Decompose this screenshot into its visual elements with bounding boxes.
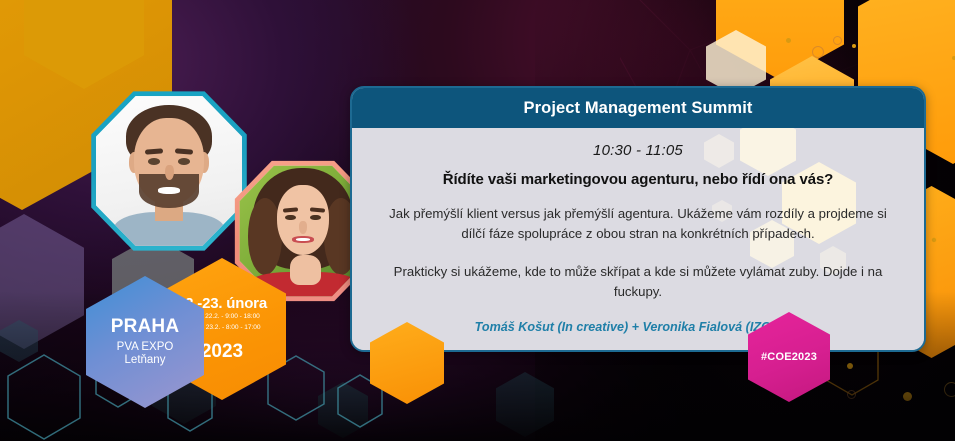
venue-city: PRAHA <box>111 316 180 338</box>
session-description-2: Prakticky si ukážeme, kde to může skřípa… <box>386 262 890 302</box>
venue-district: Letňany <box>125 354 166 368</box>
session-card-content: 10:30 - 11:05 Řídíte vaši marketingovou … <box>386 128 890 334</box>
venue-hexagon-text: PRAHA PVA EXPO Letňany <box>86 276 204 408</box>
promo-banner: 22.-23. února Středa 22.2. - 9:00 - 18:0… <box>0 0 955 441</box>
session-title: Řídíte vaši marketingovou agenturu, nebo… <box>386 171 890 188</box>
session-time: 10:30 - 11:05 <box>386 128 890 159</box>
decorative-ring-2 <box>833 36 842 45</box>
venue-place: PVA EXPO <box>117 341 174 355</box>
hashtag-badge-text: #COE2023 <box>748 312 830 402</box>
decorative-dot-amber-1 <box>786 38 791 43</box>
speaker-photo-male-image <box>93 93 245 249</box>
summit-title: Project Management Summit <box>524 99 753 118</box>
decorative-ring-1 <box>812 46 824 58</box>
date-year: 2023 <box>201 341 243 363</box>
decorative-dot-amber-2 <box>852 44 856 48</box>
session-card-header: Project Management Summit <box>352 88 924 128</box>
session-description-1: Jak přemýšlí klient versus jak přemýšlí … <box>386 204 890 244</box>
session-card-body: 10:30 - 11:05 Řídíte vaši marketingovou … <box>352 128 924 350</box>
session-card: Project Management Summit 10:30 - 11:05 … <box>350 86 926 352</box>
